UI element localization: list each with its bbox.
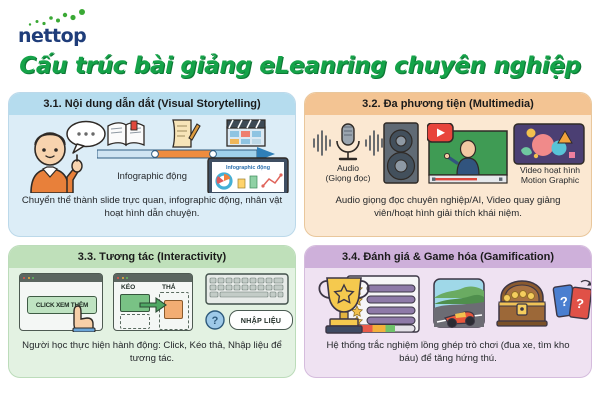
card-description: Chuyển thể thành slide trực quan, infogr… xyxy=(9,193,295,220)
script-pen-icon xyxy=(167,118,201,149)
question-mark-icon: ? xyxy=(205,310,225,330)
hand-cursor-icon xyxy=(70,304,100,332)
keyboard-icon[interactable] xyxy=(205,273,289,305)
card-multimedia: 3.2. Đa phương tiện (Multimedia) Audio (… xyxy=(304,92,592,237)
card-description: Người học thực hiện hành động: Click, Ké… xyxy=(9,338,295,365)
browser-window-icon: CLICK XEM THÊM xyxy=(19,273,103,331)
card-illustration: CLICK XEM THÊM KÉO THẢ xyxy=(9,268,295,338)
card-heading: 3.4. Đánh giá & Game hóa (Gamification) xyxy=(305,246,591,268)
card-heading: 3.3. Tương tác (Interactivity) xyxy=(9,246,295,268)
microphone-icon xyxy=(311,121,385,163)
nhap-lieu-input[interactable]: NHẬP LIỆU xyxy=(229,310,293,330)
treasure-chest-icon xyxy=(493,278,549,328)
drag-drop-window-icon: KÉO THẢ xyxy=(113,273,193,331)
svg-text:Infographic động: Infographic động xyxy=(226,165,270,171)
window-titlebar xyxy=(114,274,192,282)
card-description: Hệ thống trắc nghiệm lồng ghép trò chơi … xyxy=(305,338,591,365)
card-description: Audio giọng đọc chuyên nghiệp/AI, Video … xyxy=(305,193,591,220)
audio-label-line1: Audio xyxy=(309,163,387,173)
clapperboard-icon xyxy=(225,118,267,148)
video-label-line1: Video hoạt hình xyxy=(509,165,591,175)
card-illustration: Audio (Giọng đọc) xyxy=(305,115,591,193)
tablet-icon: Infographic động xyxy=(207,157,289,193)
svg-text:?: ? xyxy=(212,315,219,327)
brand-logo[interactable]: nettop xyxy=(18,8,118,48)
window-titlebar xyxy=(20,274,102,282)
motion-graphic-icon xyxy=(513,123,585,165)
video-teacher-icon xyxy=(427,123,509,185)
drag-placeholder xyxy=(120,314,150,329)
card-heading: 3.1. Nội dung dẫn dắt (Visual Storytelli… xyxy=(9,93,295,115)
drag-label: KÉO xyxy=(121,284,135,291)
card-illustration: Infographic động Infographic động xyxy=(9,115,295,193)
nhap-lieu-label: NHẬP LIỆU xyxy=(241,316,281,325)
card-heading: 3.2. Đa phương tiện (Multimedia) xyxy=(305,93,591,115)
video-label-line2: Motion Graphic xyxy=(509,175,591,185)
card-illustration: ? ? xyxy=(305,268,591,338)
drop-label: THẢ xyxy=(162,284,176,291)
card-visual-storytelling: 3.1. Nội dung dẫn dắt (Visual Storytelli… xyxy=(8,92,296,237)
open-book-icon xyxy=(106,120,146,148)
audio-label-line2: (Giọng đọc) xyxy=(309,173,387,183)
speaker-icon xyxy=(383,122,419,184)
infographic-label: Infographic động xyxy=(97,171,207,181)
trophy-icon xyxy=(313,272,421,334)
racing-game-icon xyxy=(433,278,485,328)
page-title: Cấu trúc bài giảng eLeanring chuyên nghi… xyxy=(0,53,600,79)
drag-arrow-icon xyxy=(139,296,167,314)
card-interactivity: 3.3. Tương tác (Interactivity) CLICK XEM… xyxy=(8,245,296,378)
card-gamification: 3.4. Đánh giá & Game hóa (Gamification) xyxy=(304,245,592,378)
logo-wordmark: nettop xyxy=(18,25,86,47)
quiz-cards-icon: ? ? xyxy=(551,278,592,328)
